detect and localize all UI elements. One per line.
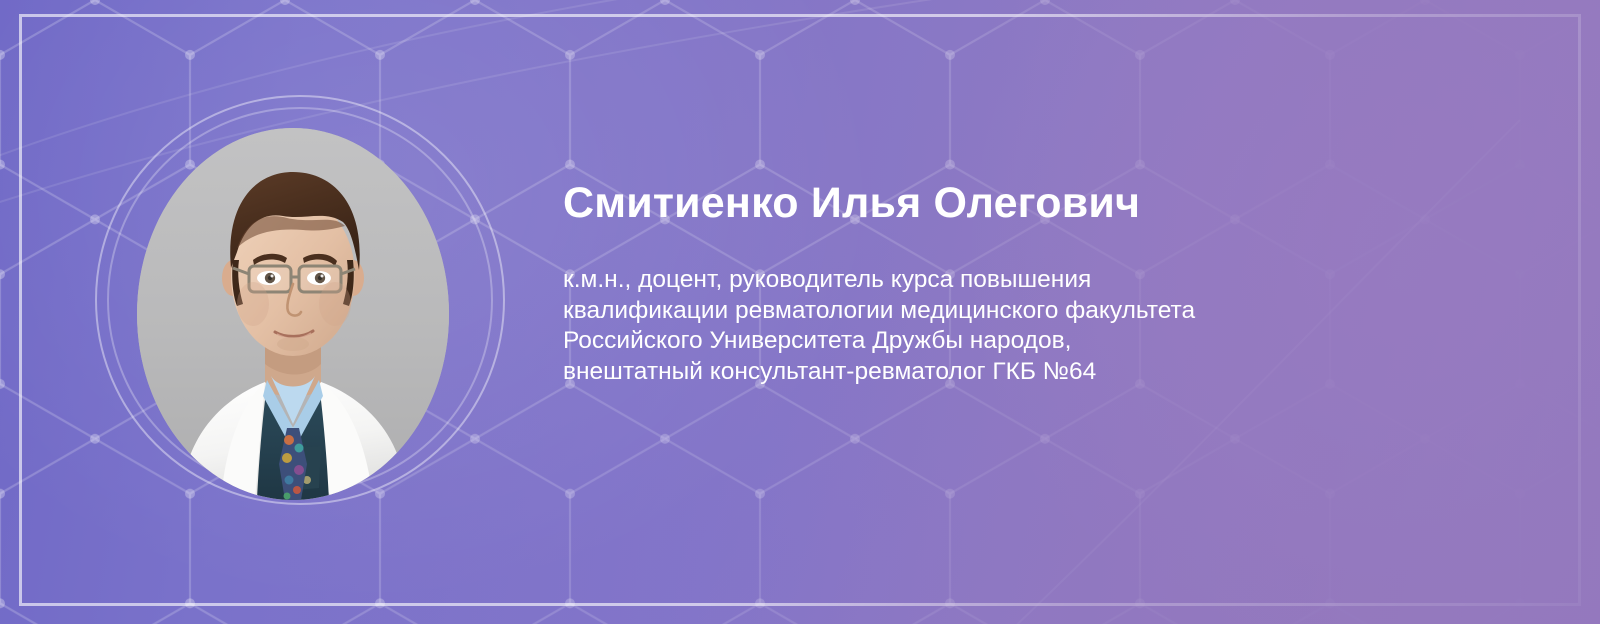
subtitle-line-4: внештатный консультант-ревматолог ГКБ №6… <box>563 357 1463 388</box>
subtitle-line-1: к.м.н., доцент, руководитель курса повыш… <box>563 265 1463 296</box>
speaker-subtitle: к.м.н., доцент, руководитель курса повыш… <box>563 265 1463 387</box>
subtitle-line-3: Российского Университета Дружбы народов, <box>563 326 1463 357</box>
portrait-photo <box>137 128 449 500</box>
speaker-banner: Смитиенко Илья Олегович к.м.н., доцент, … <box>0 0 1600 624</box>
portrait <box>95 95 505 505</box>
speaker-name: Смитиенко Илья Олегович <box>563 180 1463 227</box>
speaker-info: Смитиенко Илья Олегович к.м.н., доцент, … <box>563 180 1463 387</box>
subtitle-line-2: квалификации ревматологии медицинского ф… <box>563 296 1463 327</box>
